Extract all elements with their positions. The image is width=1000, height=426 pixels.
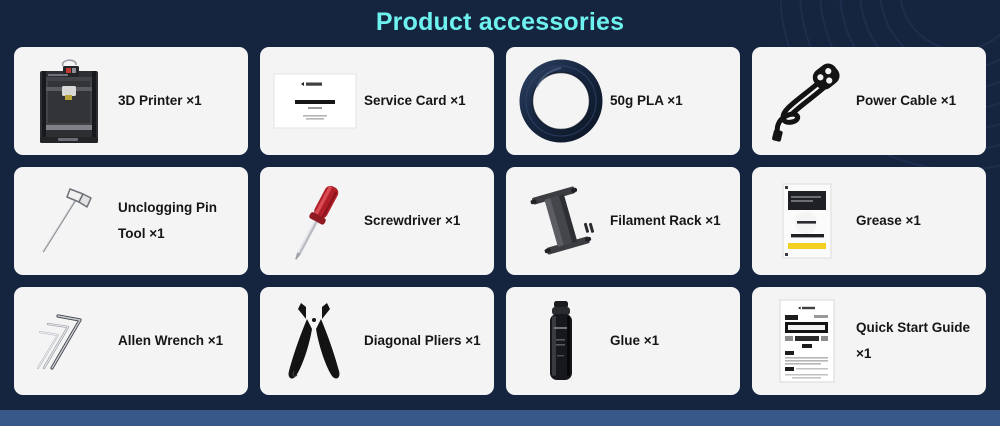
accessory-label: Screwdriver ×1 [360, 208, 484, 234]
accessory-label: Glue ×1 [606, 328, 730, 354]
product-accessories-poster: Product accessories [0, 0, 1000, 426]
accessory-label: 50g PLA ×1 [606, 88, 730, 114]
allen-wrench-icon [24, 293, 114, 389]
accessory-label: Unclogging Pin Tool ×1 [114, 195, 238, 246]
accessory-card-power-cable[interactable]: Power Cable ×1 [752, 47, 986, 155]
glue-icon [516, 293, 606, 389]
accessory-card-quick-start-guide[interactable]: Quick Start Guide ×1 [752, 287, 986, 395]
accessory-card-unclogging-pin-tool[interactable]: Unclogging Pin Tool ×1 [14, 167, 248, 275]
accessory-label: Diagonal Pliers ×1 [360, 328, 484, 354]
quick-start-guide-icon [762, 293, 852, 389]
accessory-card-service-card[interactable]: Service Card ×1 [260, 47, 494, 155]
pla-filament-icon [516, 53, 606, 149]
accessory-label: Filament Rack ×1 [606, 208, 730, 234]
accessory-card-grease[interactable]: Grease ×1 [752, 167, 986, 275]
power-cable-icon [762, 53, 852, 149]
3d-printer-icon [24, 53, 114, 149]
accessory-label: Allen Wrench ×1 [114, 328, 238, 354]
accessory-card-pla[interactable]: 50g PLA ×1 [506, 47, 740, 155]
unclogging-pin-icon [24, 173, 114, 269]
filament-rack-icon [516, 173, 606, 269]
page-title: Product accessories [0, 0, 1000, 35]
accessory-label: Service Card ×1 [360, 88, 484, 114]
grease-icon [762, 173, 852, 269]
accessory-card-3d-printer[interactable]: 3D Printer ×1 [14, 47, 248, 155]
accessory-card-diagonal-pliers[interactable]: Diagonal Pliers ×1 [260, 287, 494, 395]
service-card-icon [270, 53, 360, 149]
accessory-card-glue[interactable]: Glue ×1 [506, 287, 740, 395]
accessory-label: 3D Printer ×1 [114, 88, 238, 114]
accessory-label: Grease ×1 [852, 208, 976, 234]
screwdriver-icon [270, 173, 360, 269]
accessories-grid: 3D Printer ×1 Service Card ×1 [0, 35, 1000, 413]
accessory-card-allen-wrench[interactable]: Allen Wrench ×1 [14, 287, 248, 395]
accessory-label: Quick Start Guide ×1 [852, 315, 976, 366]
accessory-label: Power Cable ×1 [852, 88, 976, 114]
accessory-card-screwdriver[interactable]: Screwdriver ×1 [260, 167, 494, 275]
accessory-card-filament-rack[interactable]: Filament Rack ×1 [506, 167, 740, 275]
diagonal-pliers-icon [270, 293, 360, 389]
